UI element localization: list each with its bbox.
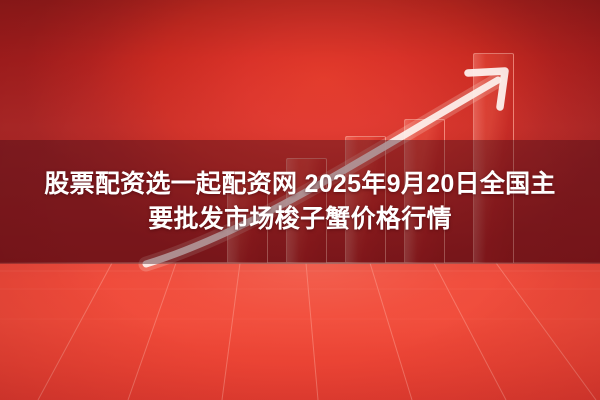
headline-line-2: 要批发市场梭子蟹价格行情 xyxy=(148,205,452,235)
news-banner: 股票配资选一起配资网 2025年9月20日全国主 要批发市场梭子蟹价格行情 xyxy=(0,0,600,400)
headline-line-1: 股票配资选一起配资网 2025年9月20日全国主 xyxy=(44,170,555,200)
page-title: 股票配资选一起配资网 2025年9月20日全国主 要批发市场梭子蟹价格行情 xyxy=(0,140,600,264)
